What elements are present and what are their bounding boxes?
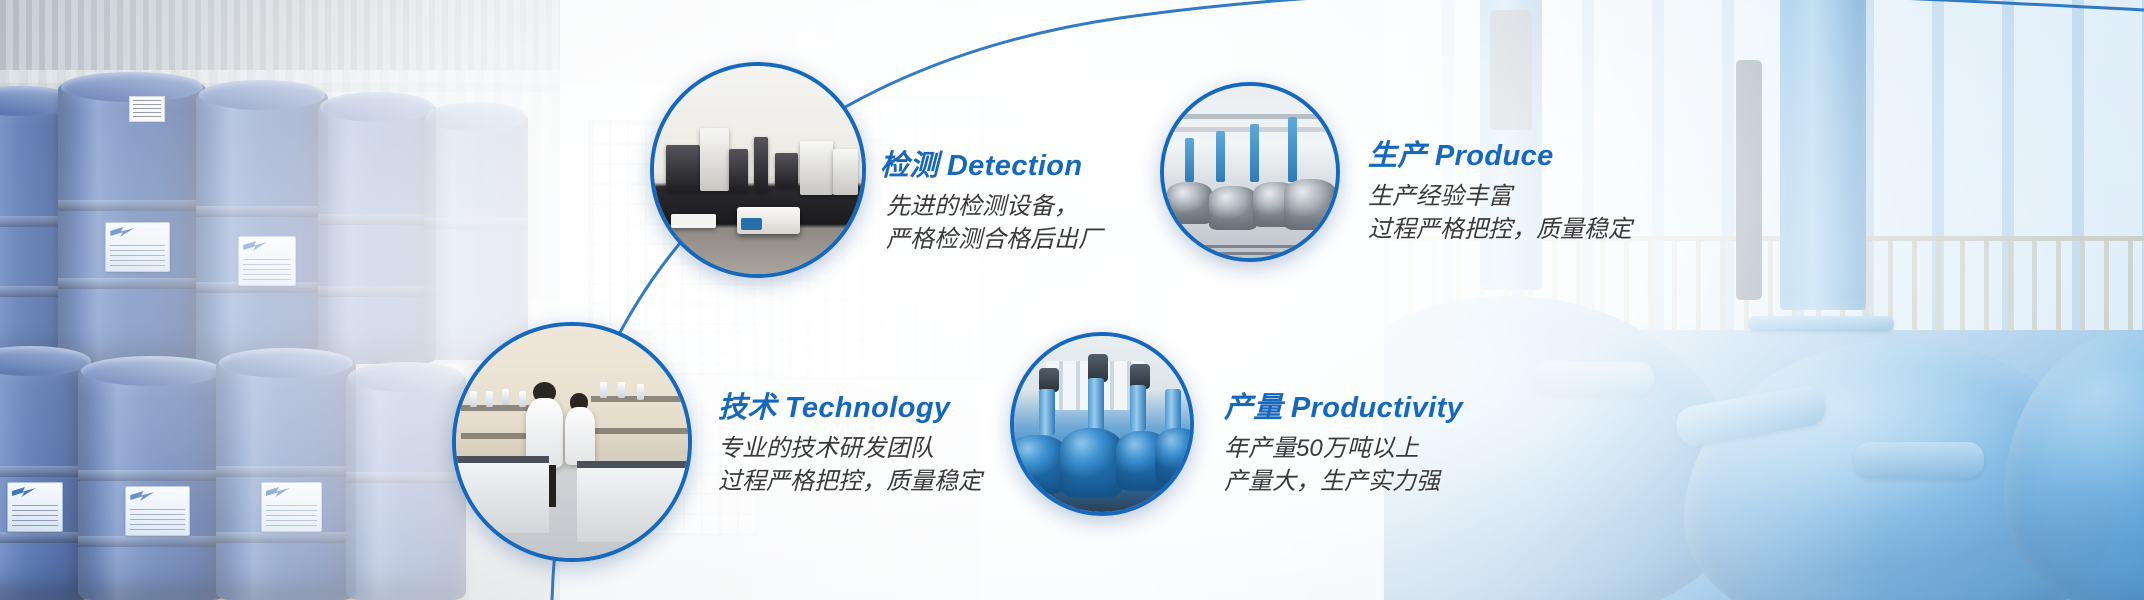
feature-text-productivity: 产量Productivity 年产量50万吨以上 产量大，生产实力强 — [1224, 392, 1463, 499]
bench-scale — [737, 207, 799, 234]
manway-cover — [1854, 442, 1984, 478]
feature-text-detection: 检测Detection 先进的检测设备， 严格检测合格后出厂 — [880, 150, 1102, 257]
drum-hazard-tag — [129, 96, 165, 122]
heading-cn: 技术 — [718, 392, 777, 424]
feature-photo-productivity — [1010, 332, 1194, 516]
reactor-motor — [1736, 60, 1762, 300]
feature-line: 过程严格把控，质量稳定 — [1368, 213, 1632, 246]
drum — [58, 82, 206, 368]
drum-label — [261, 482, 322, 532]
heading-en: Technology — [777, 392, 951, 424]
feature-line: 产量大，生产实力强 — [1224, 465, 1463, 498]
heading-en: Detection — [939, 150, 1083, 182]
reactor-column — [1780, 0, 1866, 310]
drum-label — [7, 482, 63, 532]
feature-line: 过程严格把控，质量稳定 — [718, 465, 982, 498]
feature-lines-produce: 生产经验丰富 过程严格把控，质量稳定 — [1368, 180, 1632, 246]
feature-lines-technology: 专业的技术研发团队 过程严格把控，质量稳定 — [718, 432, 982, 498]
reactor-flange — [1748, 316, 1894, 331]
feature-heading-produce: 生产Produce — [1368, 140, 1632, 173]
feature-line: 严格检测合格后出厂 — [880, 223, 1102, 256]
safety-railing — [1164, 252, 1336, 255]
heading-cn: 生产 — [1368, 140, 1427, 172]
feature-lines-productivity: 年产量50万吨以上 产量大，生产实力强 — [1224, 432, 1463, 498]
drum — [424, 112, 528, 360]
feature-line: 先进的检测设备， — [880, 190, 1102, 223]
drum-label — [125, 486, 189, 536]
feature-text-technology: 技术Technology 专业的技术研发团队 过程严格把控，质量稳定 — [718, 392, 982, 499]
safety-railing — [1164, 245, 1336, 248]
feature-photo-technology — [452, 322, 692, 562]
heading-cn: 检测 — [880, 150, 939, 182]
manway-cover — [1534, 362, 1654, 396]
rnd-laboratory-technicians-photo — [456, 326, 688, 558]
feature-heading-detection: 检测Detection — [880, 150, 1102, 183]
capability-banner: 检测Detection 先进的检测设备， 严格检测合格后出厂 生产Produce… — [0, 0, 2144, 600]
drum — [346, 372, 466, 600]
feature-line: 生产经验丰富 — [1368, 180, 1632, 213]
blue-reactor-vessels-photo — [1014, 336, 1190, 512]
feature-line: 专业的技术研发团队 — [718, 432, 982, 465]
heading-en: Productivity — [1283, 392, 1463, 424]
technician-labcoat — [565, 407, 595, 465]
heading-en: Produce — [1427, 140, 1554, 172]
feature-heading-productivity: 产量Productivity — [1224, 392, 1463, 425]
feature-photo-produce — [1160, 82, 1340, 262]
feature-line: 年产量50万吨以上 — [1224, 432, 1463, 465]
drum — [78, 366, 226, 600]
lab-bench — [456, 456, 549, 533]
production-workshop-steel-tanks-photo — [1164, 86, 1336, 258]
drum — [196, 90, 328, 366]
drum — [318, 102, 436, 364]
drum — [216, 358, 356, 600]
lab-testing-instruments-photo — [654, 66, 862, 274]
drum-label — [238, 236, 295, 286]
feature-text-produce: 生产Produce 生产经验丰富 过程严格把控，质量稳定 — [1368, 140, 1632, 247]
feature-photo-detection — [650, 62, 866, 278]
drum-label — [105, 222, 169, 272]
feature-lines-detection: 先进的检测设备， 严格检测合格后出厂 — [880, 190, 1102, 256]
reactor-vessel — [2004, 330, 2144, 600]
reactor-motor — [1490, 10, 1532, 130]
heading-cn: 产量 — [1224, 392, 1283, 424]
lab-bench — [577, 461, 688, 542]
background-right-reactors — [1384, 0, 2144, 600]
feature-heading-technology: 技术Technology — [718, 392, 982, 425]
